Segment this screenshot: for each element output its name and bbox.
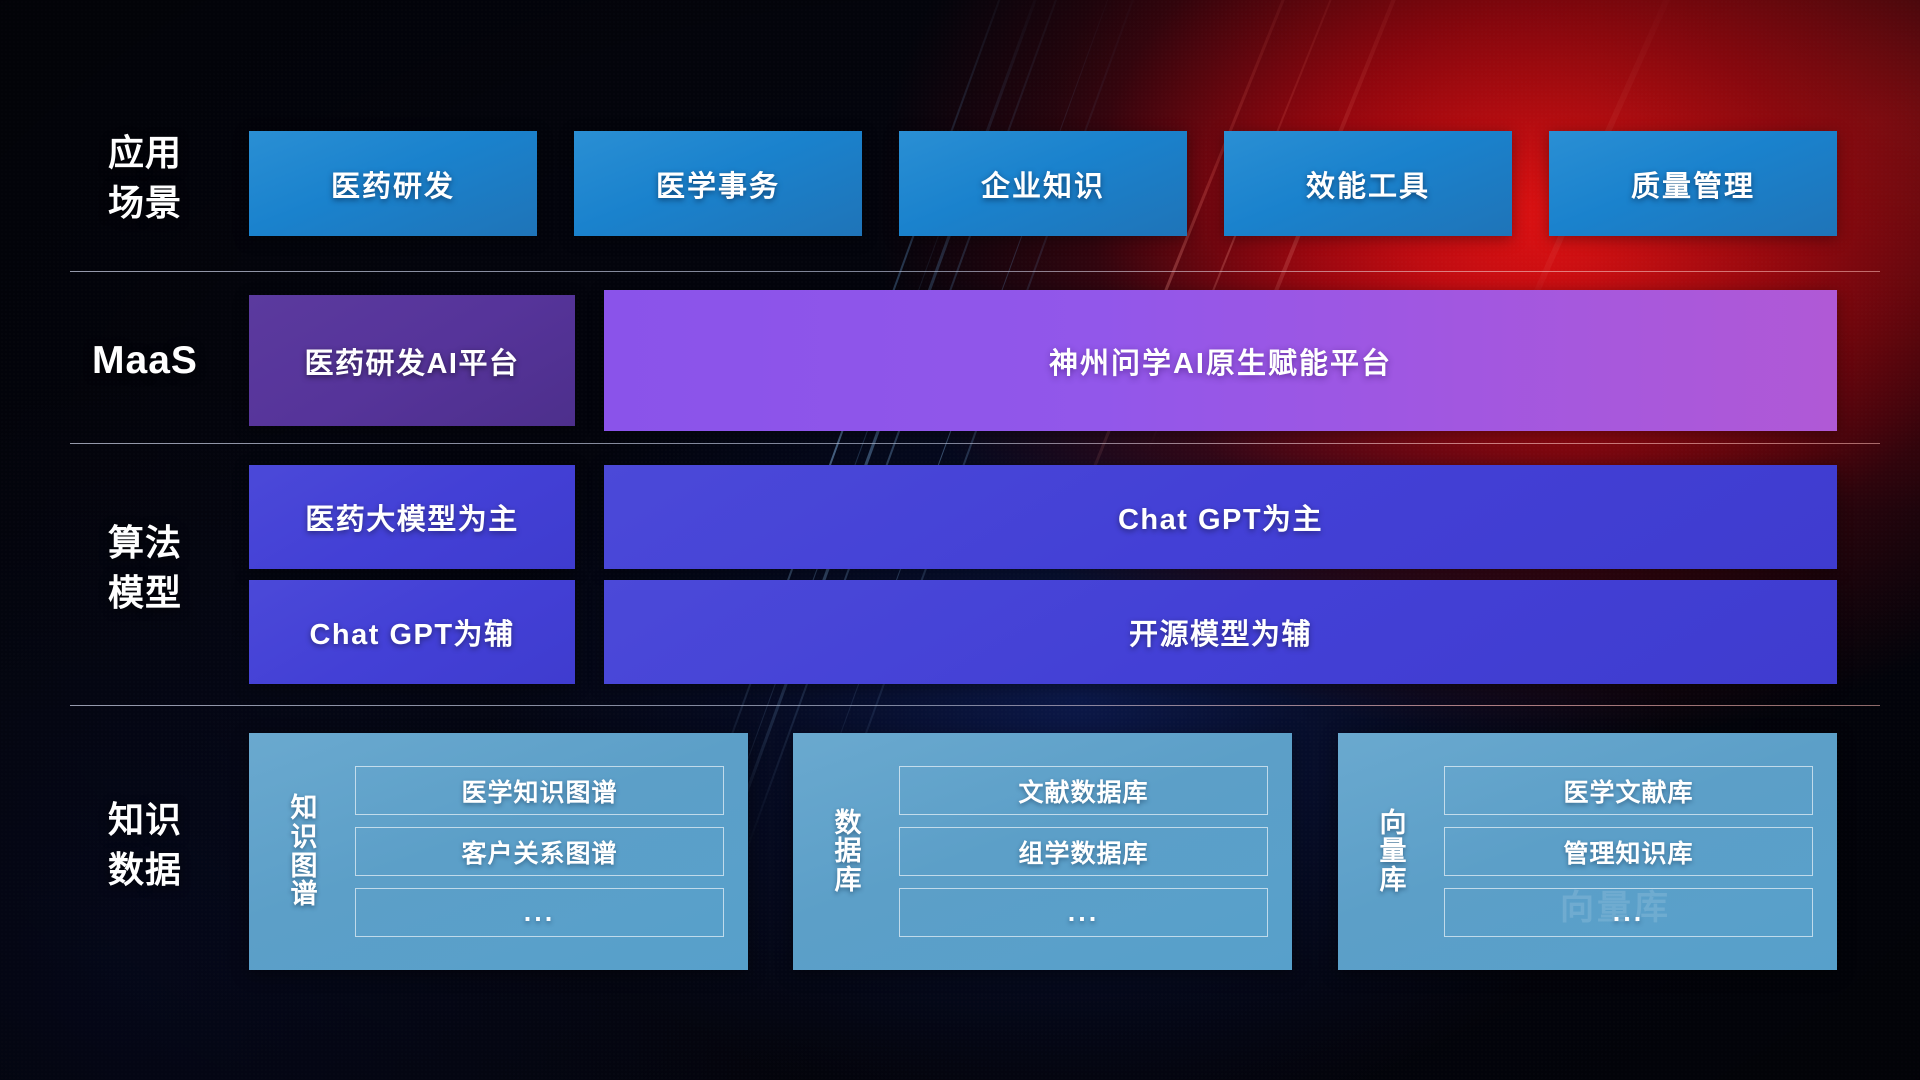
- divider-3: [70, 705, 1880, 706]
- maas-platform-card-right[interactable]: 神州问学AI原生赋能平台: [604, 290, 1837, 431]
- knowledge-group-items: 医学文献库 管理知识库 ...: [1426, 750, 1837, 953]
- knowledge-item-more[interactable]: ...: [899, 888, 1268, 937]
- maas-platform-card-left[interactable]: 医药研发AI平台: [249, 295, 575, 426]
- row-label-line: MaaS: [70, 336, 220, 386]
- knowledge-group-3: 向量库 医学文献库 管理知识库 ...: [1338, 733, 1837, 970]
- knowledge-group-title: 向量库: [1360, 809, 1426, 895]
- card-label: 医药大模型为主: [305, 496, 519, 538]
- knowledge-group-items: 医学知识图谱 客户关系图谱 ...: [337, 750, 748, 953]
- row-label-line: 数据: [70, 845, 220, 895]
- architecture-diagram-canvas: 应用 场景 医药研发 医学事务 企业知识 效能工具 质量管理 MaaS 医药研发…: [0, 0, 1920, 1080]
- divider-1: [70, 271, 1880, 272]
- row-label-knowledge-data: 知识 数据: [70, 795, 220, 895]
- knowledge-group-items: 文献数据库 组学数据库 ...: [881, 750, 1292, 953]
- knowledge-item[interactable]: 管理知识库: [1444, 827, 1813, 876]
- knowledge-group-1: 知识图谱 医学知识图谱 客户关系图谱 ...: [249, 733, 748, 970]
- knowledge-item-more[interactable]: ...: [1444, 888, 1813, 937]
- app-scenario-card-1[interactable]: 医药研发: [249, 131, 537, 236]
- card-label: 医药研发AI平台: [304, 340, 519, 382]
- app-scenario-card-3[interactable]: 企业知识: [899, 131, 1187, 236]
- card-label: 医药研发: [331, 163, 455, 205]
- row-label-maas: MaaS: [70, 336, 220, 386]
- knowledge-item-more[interactable]: ...: [355, 888, 724, 937]
- row-label-algorithm-model: 算法 模型: [70, 518, 220, 618]
- knowledge-item[interactable]: 文献数据库: [899, 766, 1268, 815]
- card-label: 医学事务: [656, 163, 780, 205]
- knowledge-item[interactable]: 组学数据库: [899, 827, 1268, 876]
- card-label: 质量管理: [1631, 163, 1755, 205]
- app-scenario-card-5[interactable]: 质量管理: [1549, 131, 1837, 236]
- card-label: Chat GPT为辅: [309, 611, 514, 653]
- card-label: 开源模型为辅: [1129, 611, 1312, 653]
- knowledge-item[interactable]: 医学文献库: [1444, 766, 1813, 815]
- knowledge-group-2: 数据库 文献数据库 组学数据库 ...: [793, 733, 1292, 970]
- algorithm-card-right-2[interactable]: 开源模型为辅: [604, 580, 1837, 684]
- card-label: 效能工具: [1306, 163, 1430, 205]
- card-label: Chat GPT为主: [1118, 496, 1323, 538]
- card-label: 神州问学AI原生赋能平台: [1049, 340, 1392, 382]
- algorithm-card-right-1[interactable]: Chat GPT为主: [604, 465, 1837, 569]
- algorithm-card-left-2[interactable]: Chat GPT为辅: [249, 580, 575, 684]
- knowledge-item[interactable]: 客户关系图谱: [355, 827, 724, 876]
- knowledge-item[interactable]: 医学知识图谱: [355, 766, 724, 815]
- row-label-line: 知识: [70, 795, 220, 845]
- divider-2: [70, 443, 1880, 444]
- knowledge-group-title: 数据库: [815, 809, 881, 895]
- row-label-application-scenario: 应用 场景: [70, 128, 220, 228]
- row-label-line: 模型: [70, 568, 220, 618]
- row-label-line: 应用: [70, 128, 220, 178]
- app-scenario-card-4[interactable]: 效能工具: [1224, 131, 1512, 236]
- row-label-line: 算法: [70, 518, 220, 568]
- row-label-line: 场景: [70, 178, 220, 228]
- card-label: 企业知识: [981, 163, 1105, 205]
- app-scenario-card-2[interactable]: 医学事务: [574, 131, 862, 236]
- knowledge-group-title: 知识图谱: [271, 794, 337, 908]
- algorithm-card-left-1[interactable]: 医药大模型为主: [249, 465, 575, 569]
